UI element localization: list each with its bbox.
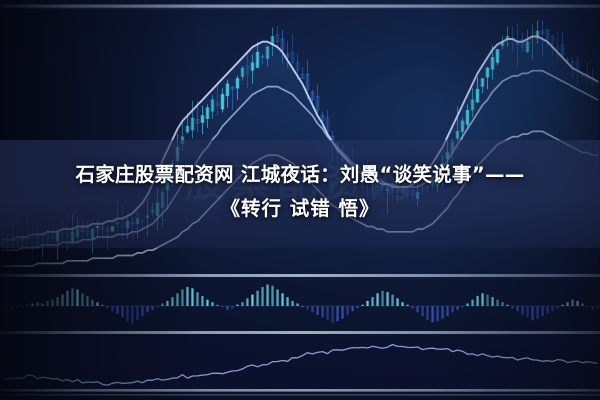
- headline-line-1: 石家庄股票配资网 江城夜话：刘愚“谈笑说事”——: [0, 158, 600, 192]
- headline-line-2: 《转行 试错 悟》: [0, 192, 600, 226]
- trend-line-panel: [0, 336, 600, 390]
- price-panel: [1, 20, 599, 274]
- macd-histogram-panel: [0, 280, 600, 330]
- headline: 石家庄股票配资网 江城夜话：刘愚“谈笑说事”—— 《转行 试错 悟》: [0, 158, 600, 226]
- chart-banner: 股票配资网 石家庄股票配资网 江城夜话：刘愚“谈笑说事”—— 《转行 试错 悟》: [0, 0, 600, 400]
- top-separator-band: [0, 5, 600, 10]
